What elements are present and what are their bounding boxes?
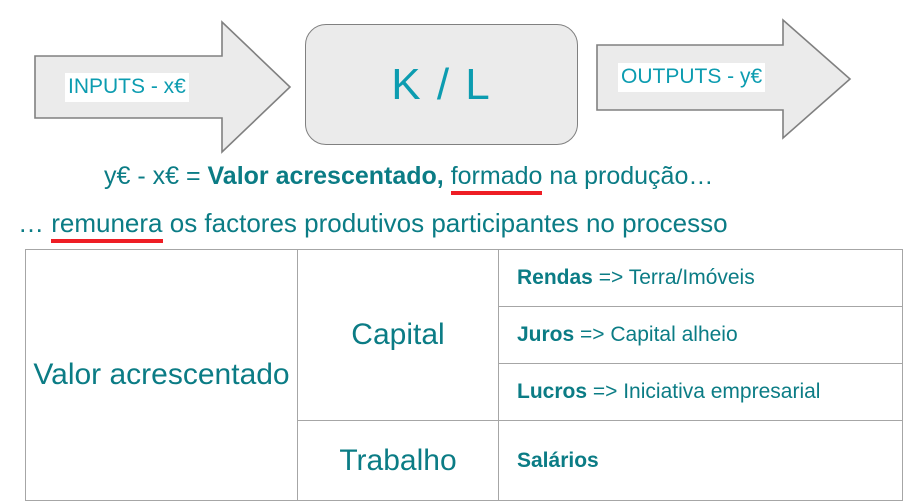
input-arrow-label: INPUTS - x€ <box>65 73 189 102</box>
item-term-juros: Juros <box>517 323 574 346</box>
statement-2-suffix: os factores produtivos participantes no … <box>163 208 728 238</box>
statement-line-2: … remunera os factores produtivos partic… <box>18 207 728 240</box>
table-row: Valor acrescentado Capital Rendas => Ter… <box>26 250 903 307</box>
statement-1-suffix: na produção… <box>542 162 713 190</box>
cell-item-juros: Juros => Capital alheio <box>499 307 903 364</box>
cell-value-added: Valor acrescentado <box>26 250 298 501</box>
item-term-rendas: Rendas <box>517 266 593 289</box>
cell-item-lucros: Lucros => Iniciativa empresarial <box>499 364 903 421</box>
process-diagram: INPUTS - x€ K / L OUTPUTS - y€ <box>0 0 923 160</box>
statement-2-prefix: … <box>18 208 51 238</box>
item-term-salarios: Salários <box>517 449 599 472</box>
cell-factor-capital: Capital <box>298 250 499 421</box>
item-term-lucros: Lucros <box>517 380 587 403</box>
item-arrow-rendas: => <box>593 266 629 289</box>
capital-labour-label: K / L <box>391 63 492 107</box>
value-added-table: Valor acrescentado Capital Rendas => Ter… <box>25 249 903 501</box>
statement-1-prefix: y€ - x€ = <box>104 162 208 190</box>
capital-labour-box: K / L <box>305 24 578 145</box>
cell-item-rendas: Rendas => Terra/Imóveis <box>499 250 903 307</box>
item-detail-juros: Capital alheio <box>610 323 737 346</box>
item-detail-rendas: Terra/Imóveis <box>629 266 755 289</box>
item-arrow-lucros: => <box>587 380 623 403</box>
item-detail-lucros: Iniciativa empresarial <box>623 380 820 403</box>
statement-1-underlined: formado <box>451 162 543 195</box>
cell-item-salarios: Salários <box>499 421 903 501</box>
output-arrow-label: OUTPUTS - y€ <box>618 63 765 92</box>
cell-factor-trabalho: Trabalho <box>298 421 499 501</box>
statement-line-1: y€ - x€ = Valor acrescentado, formado na… <box>104 160 713 192</box>
statement-2-underlined: remunera <box>51 208 162 243</box>
item-arrow-juros: => <box>574 323 610 346</box>
statement-1-bold: Valor acrescentado, <box>208 162 444 190</box>
